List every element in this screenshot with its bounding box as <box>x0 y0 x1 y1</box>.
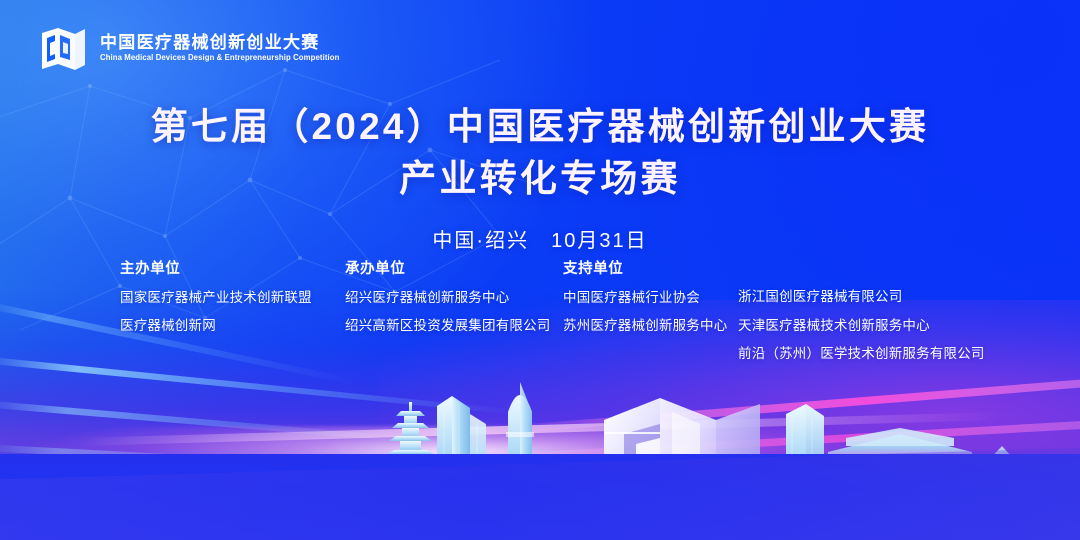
event-location-date: 中国·绍兴 10月31日 <box>0 224 1080 253</box>
page-title-line2: 产业转化专场赛 <box>0 156 1080 202</box>
page-title-line1: 第七届（2024）中国医疗器械创新创业大赛 <box>0 104 1080 150</box>
organizer-item: 国家医疗器械产业技术创新联盟 <box>120 291 345 305</box>
brand-name-en: China Medical Devices Design & Entrepren… <box>100 54 339 62</box>
organizer-heading: 主办单位 <box>120 262 345 277</box>
brand-logo-text: 中国医疗器械创新创业大赛 China Medical Devices Desig… <box>100 34 347 62</box>
organizer-heading: 承办单位 <box>345 262 563 277</box>
organizer-column-support: 支持单位 中国医疗器械行业协会 苏州医疗器械创新服务中心 <box>563 262 738 333</box>
open-book-logo-icon <box>38 24 88 72</box>
organizer-column-organizer: 承办单位 绍兴医疗器械创新服务中心 绍兴高新区投资发展集团有限公司 <box>345 262 563 333</box>
organizer-column-host: 主办单位 国家医疗器械产业技术创新联盟 医疗器械创新网 <box>120 262 345 333</box>
organizer-item: 中国医疗器械行业协会 <box>563 291 738 305</box>
organizer-item: 绍兴医疗器械创新服务中心 <box>345 291 563 305</box>
organizer-heading: 支持单位 <box>563 262 738 277</box>
organizer-item: 浙江国创医疗器械有限公司 <box>738 290 1000 304</box>
organizer-item: 苏州医疗器械创新服务中心 <box>563 319 738 333</box>
hero-title-block: 第七届（2024）中国医疗器械创新创业大赛 产业转化专场赛 中国·绍兴 10月3… <box>0 104 1080 253</box>
organizer-item: 前沿（苏州）医学技术创新服务有限公司 <box>738 347 1000 361</box>
brand-name-cn: 中国医疗器械创新创业大赛 <box>100 34 347 51</box>
organizer-item: 绍兴高新区投资发展集团有限公司 <box>345 319 563 333</box>
organizer-section: 主办单位 国家医疗器械产业技术创新联盟 医疗器械创新网 承办单位 绍兴医疗器械创… <box>120 262 1000 361</box>
organizer-item: 天津医疗器械技术创新服务中心 <box>738 319 1000 333</box>
event-banner: 中国医疗器械创新创业大赛 China Medical Devices Desig… <box>0 0 1080 540</box>
brand-logo[interactable]: 中国医疗器械创新创业大赛 China Medical Devices Desig… <box>38 24 347 72</box>
organizer-column-support-continued: 浙江国创医疗器械有限公司 天津医疗器械技术创新服务中心 前沿（苏州）医学技术创新… <box>738 262 1000 361</box>
organizer-item: 医疗器械创新网 <box>120 319 345 333</box>
